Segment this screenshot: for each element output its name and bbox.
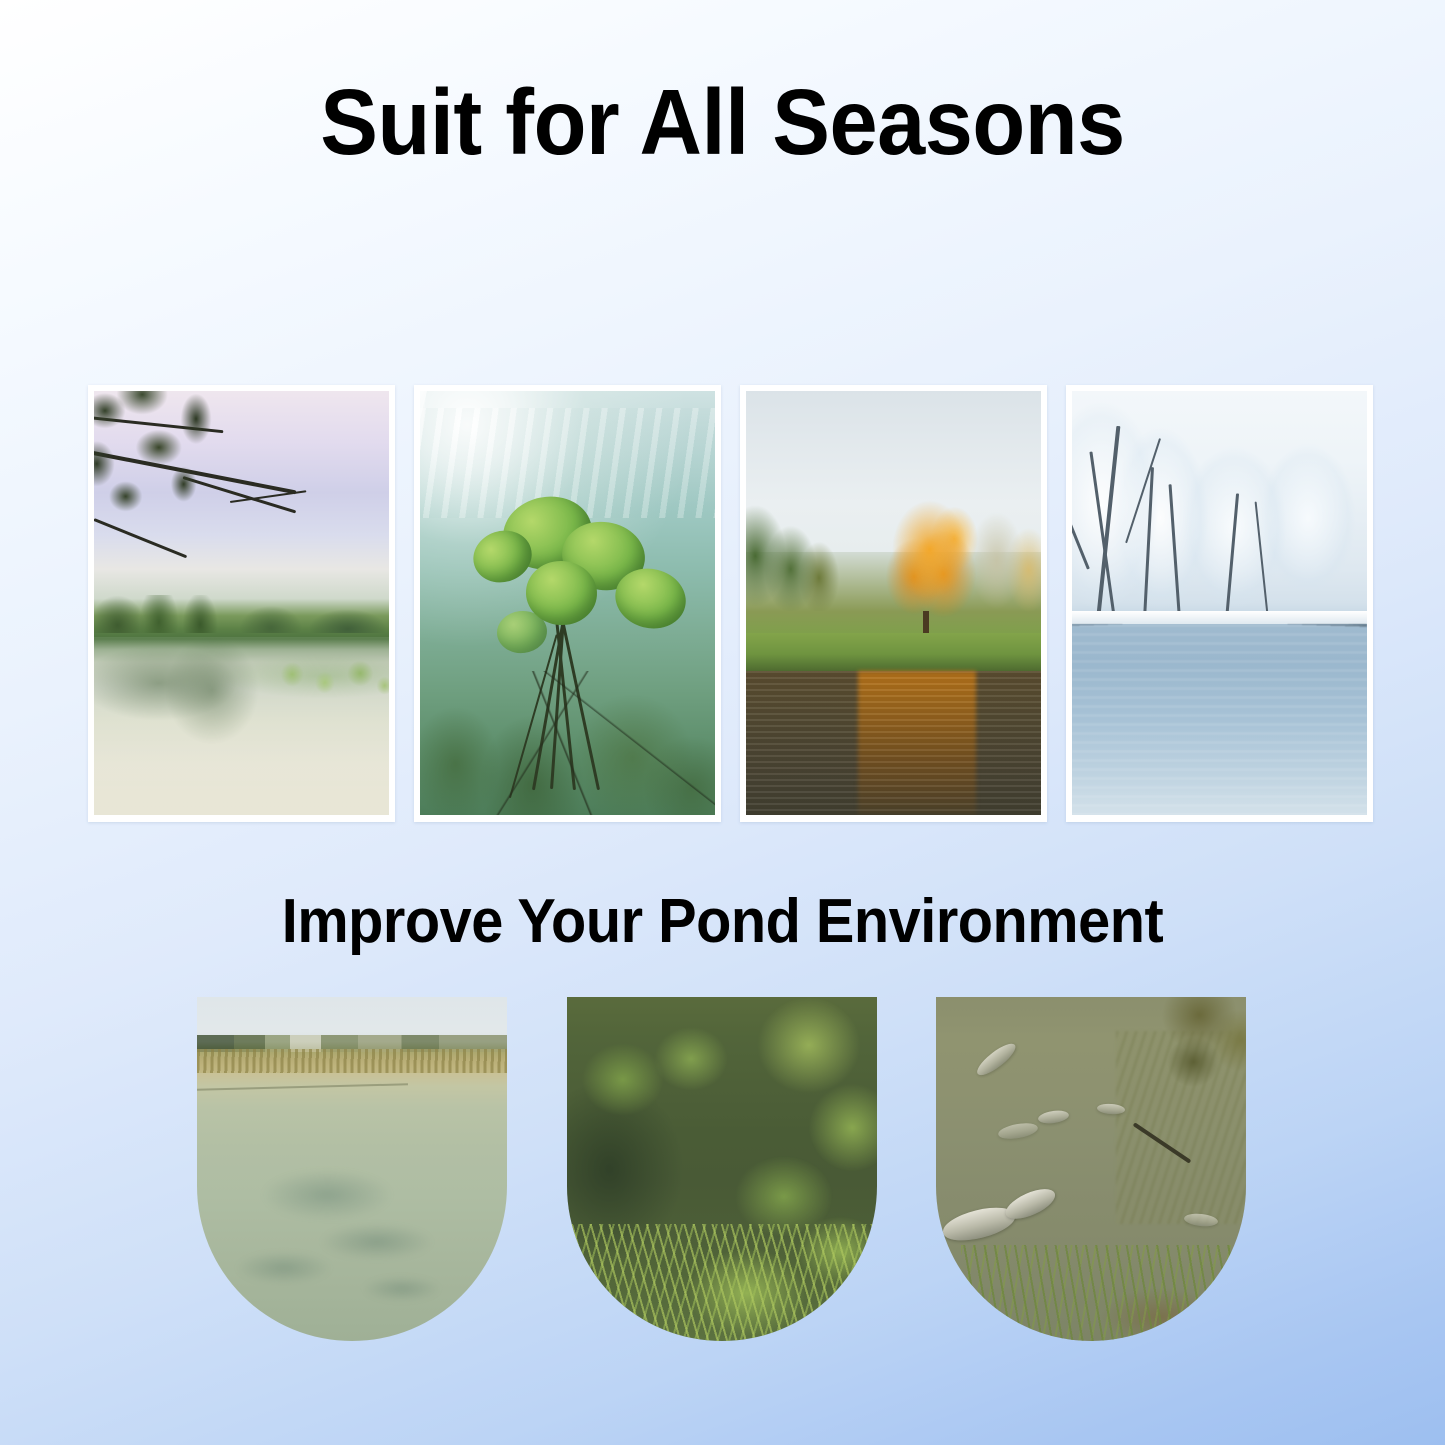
problem-gallery [197,997,1246,1341]
autumn-green-trees [746,501,852,611]
season-card-winter [1066,385,1373,822]
season-card-autumn [740,385,1047,822]
problem-card-algae-overgrowth [567,997,877,1341]
problem-card-fish-kill [936,997,1246,1341]
season-card-summer [414,385,721,822]
winter-snowy-shoreline [1072,611,1367,624]
poster-canvas: Suit for All Seasons [0,0,1445,1445]
problem-card-turbid-water [197,997,507,1341]
winter-pond-photo [1072,391,1367,815]
spring-foliage [94,391,283,578]
winter-tree-reflections [1072,624,1367,815]
dead-fish [973,1039,1019,1080]
season-gallery [88,385,1373,822]
summer-submerged-branches [420,671,715,815]
autumn-water-ripples [746,671,1041,815]
fish-shore-weeds [961,1245,1246,1341]
autumn-pond-photo [746,391,1041,815]
spring-pond-photo [94,391,389,815]
spring-treeline [94,595,389,633]
summer-underwater-photo [420,391,715,815]
turbid-reed-bank [197,1049,507,1073]
section-subtitle: Improve Your Pond Environment [51,891,1395,953]
turbid-murky-water [197,1080,507,1341]
spring-lily-patch [265,654,389,705]
algae-weed-blades [567,1224,877,1341]
season-card-spring [88,385,395,822]
page-title: Suit for All Seasons [51,76,1395,169]
autumn-grass-bank [746,633,1041,671]
autumn-golden-tree [876,493,988,629]
dead-fish [1038,1108,1070,1124]
dead-fish [997,1121,1039,1142]
